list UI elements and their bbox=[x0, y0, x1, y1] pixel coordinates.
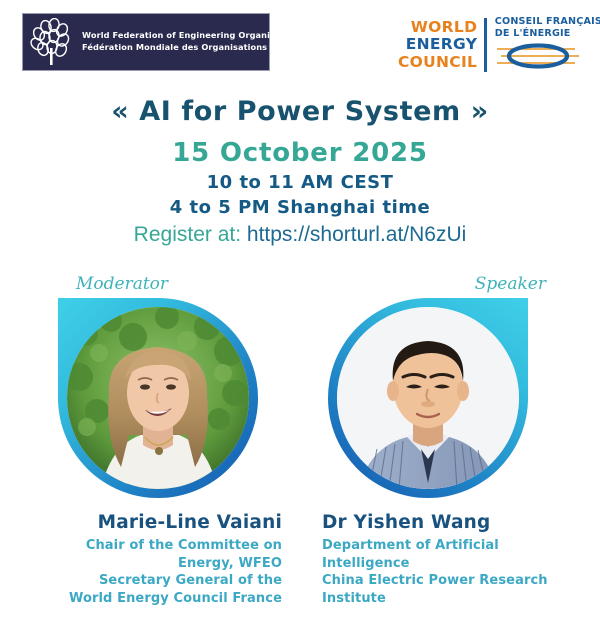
tree-logo-icon bbox=[29, 18, 75, 66]
avatar-photo-speaker bbox=[337, 307, 519, 489]
affiliation-line: Energy, WFEO bbox=[20, 555, 282, 573]
person-affiliation-moderator: Chair of the Committee on Energy, WFEO S… bbox=[20, 537, 290, 607]
ellipse-mark-icon bbox=[495, 43, 581, 69]
wec-word-council: COUNCIL bbox=[398, 54, 477, 72]
avatar-speaker bbox=[328, 298, 528, 498]
event-time-shanghai: 4 to 5 PM Shanghai time bbox=[0, 196, 600, 220]
world-energy-council-logo: WORLD ENERGY COUNCIL CONSEIL FRANÇAIS DE… bbox=[398, 14, 588, 76]
wfeo-line-en: World Federation of Engineering Organiza… bbox=[82, 30, 329, 42]
affiliation-line: Chair of the Committee on bbox=[20, 537, 282, 555]
cfe-line-1: CONSEIL FRANÇAIS bbox=[495, 16, 600, 28]
wec-word-world: WORLD bbox=[398, 19, 477, 37]
event-title-block: « AI for Power System » 15 October 2025 … bbox=[0, 96, 600, 247]
person-name-moderator: Marie-Line Vaiani bbox=[20, 512, 290, 534]
wec-word-energy: ENERGY bbox=[398, 36, 477, 54]
affiliation-line: Department of Artificial bbox=[322, 537, 580, 555]
page-title: « AI for Power System » bbox=[0, 96, 600, 128]
wfeo-line-fr: Fédération Mondiale des Organisations d'… bbox=[82, 42, 329, 54]
person-affiliation-speaker: Department of Artificial Intelligence Ch… bbox=[310, 537, 580, 607]
cfe-line-2: DE L'ÉNERGIE bbox=[495, 28, 600, 40]
avatar-photo-moderator bbox=[67, 307, 249, 489]
person-name-speaker: Dr Yishen Wang bbox=[310, 512, 580, 534]
register-label: Register at: bbox=[134, 223, 241, 246]
registration-line: Register at: https://shorturl.at/N6zUi bbox=[0, 223, 600, 247]
register-link[interactable]: https://shorturl.at/N6zUi bbox=[247, 223, 466, 246]
wfeo-logo: World Federation of Engineering Organiza… bbox=[22, 13, 270, 71]
event-time-block: 10 to 11 AM CEST 4 to 5 PM Shanghai time bbox=[0, 171, 600, 219]
affiliation-line: Institute bbox=[322, 590, 580, 608]
affiliation-line: Secretary General of the bbox=[20, 572, 282, 590]
person-card-speaker: Speaker bbox=[310, 274, 580, 607]
affiliation-line: World Energy Council France bbox=[20, 590, 282, 608]
affiliation-line: Intelligence bbox=[322, 555, 580, 573]
people-section: Moderator bbox=[0, 274, 600, 634]
event-time-cest: 10 to 11 AM CEST bbox=[0, 171, 600, 195]
header-logos: World Federation of Engineering Organiza… bbox=[0, 0, 600, 92]
event-date: 15 October 2025 bbox=[0, 138, 600, 168]
wec-wordmark: WORLD ENERGY COUNCIL bbox=[398, 19, 484, 72]
cfe-block: CONSEIL FRANÇAIS DE L'ÉNERGIE bbox=[487, 16, 600, 74]
avatar-moderator bbox=[58, 298, 258, 498]
affiliation-line: China Electric Power Research bbox=[322, 572, 580, 590]
role-label-moderator: Moderator bbox=[20, 274, 290, 298]
role-label-speaker: Speaker bbox=[310, 274, 580, 298]
wfeo-logo-text: World Federation of Engineering Organiza… bbox=[82, 30, 329, 54]
person-card-moderator: Moderator bbox=[20, 274, 290, 607]
